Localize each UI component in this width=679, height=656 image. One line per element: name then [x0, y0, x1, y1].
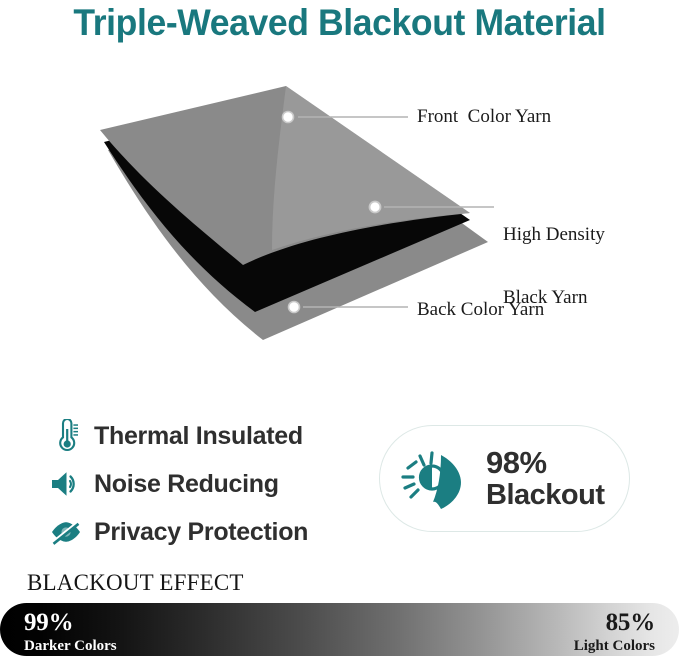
light-colors-caption: Light Colors: [574, 639, 655, 654]
callout-label-front-color-yarn: Front Color Yarn: [417, 106, 551, 127]
blackout-effect-gradient-bar: 99% Darker Colors 85% Light Colors: [0, 603, 679, 656]
blackout-word: Blackout: [486, 481, 604, 510]
thermometer-icon: [46, 419, 86, 453]
feature-list: Thermal Insulated Noise Reducing Privacy…: [46, 412, 366, 556]
callout-label-line1: High Density: [503, 224, 605, 245]
speaker-sound-icon: [46, 469, 86, 499]
feature-item-privacy-protection: Privacy Protection: [46, 508, 366, 556]
blackout-badge: 98% Blackout: [379, 425, 630, 532]
darker-colors-percent: 99%: [24, 610, 117, 635]
feature-label-privacy-protection: Privacy Protection: [94, 518, 308, 547]
light-colors-percent: 85%: [574, 610, 655, 635]
sun-blocked-icon: [380, 444, 486, 514]
page-title: Triple-Weaved Blackout Material: [14, 2, 666, 44]
eye-slash-icon: [46, 518, 86, 546]
darker-colors-caption: Darker Colors: [24, 639, 117, 654]
gradient-bar-left-stat: 99% Darker Colors: [24, 610, 117, 654]
feature-label-thermal-insulated: Thermal Insulated: [94, 422, 303, 451]
callout-dot-back: [289, 302, 300, 313]
gradient-bar-right-stat: 85% Light Colors: [574, 610, 655, 654]
blackout-badge-text: 98% Blackout: [486, 447, 604, 510]
blackout-percent: 98%: [486, 447, 604, 478]
callout-label-back-color-yarn: Back Color Yarn: [417, 299, 544, 320]
feature-item-noise-reducing: Noise Reducing: [46, 460, 366, 508]
feature-label-noise-reducing: Noise Reducing: [94, 470, 279, 499]
callout-dot-high-density: [370, 202, 381, 213]
blackout-effect-heading: BLACKOUT EFFECT: [27, 570, 244, 596]
callout-dot-front: [283, 112, 294, 123]
feature-item-thermal-insulated: Thermal Insulated: [46, 412, 366, 460]
